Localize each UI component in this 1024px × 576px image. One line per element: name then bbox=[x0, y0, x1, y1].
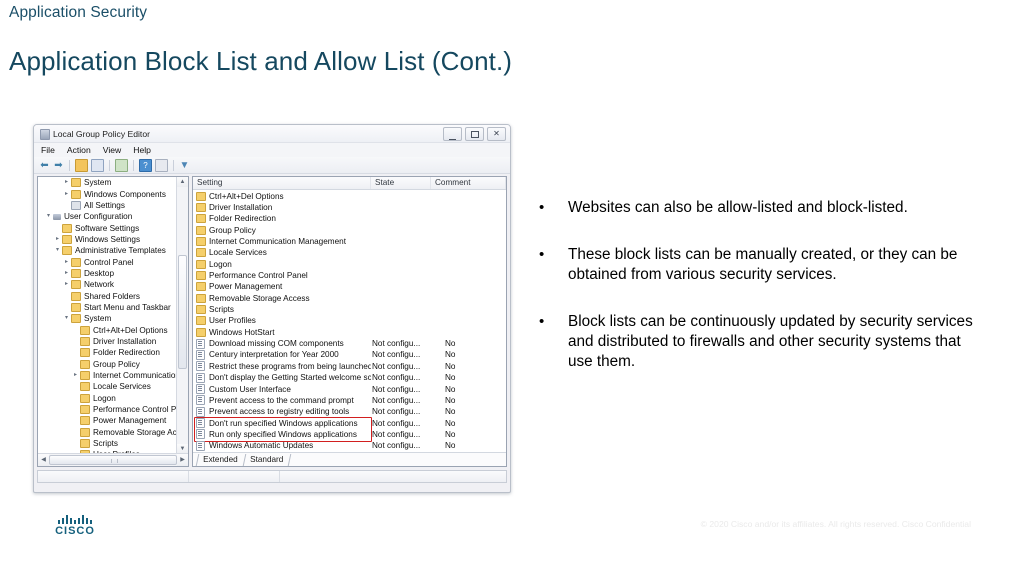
menu-bar: File Action View Help bbox=[34, 143, 510, 157]
folder-icon bbox=[80, 405, 90, 414]
slide-root: Application Security Application Block L… bbox=[0, 0, 1024, 576]
cell-state: Not configu... bbox=[371, 407, 431, 416]
tree-item-label: Windows Components bbox=[84, 190, 166, 199]
chevron-right-icon[interactable]: ▸ bbox=[62, 257, 71, 268]
cisco-logo: CISCO bbox=[44, 515, 106, 537]
bullet-marker: • bbox=[539, 198, 568, 218]
tree-item[interactable]: ▾User Configuration bbox=[38, 211, 177, 222]
cell-comment: No bbox=[431, 430, 506, 439]
menu-item-view[interactable]: View bbox=[103, 145, 121, 155]
cisco-wordmark: CISCO bbox=[44, 525, 106, 537]
bullet-marker: • bbox=[539, 245, 568, 285]
folder-icon bbox=[80, 337, 90, 346]
filter-icon[interactable]: ▼ bbox=[179, 160, 190, 171]
cell-comment: No bbox=[431, 419, 506, 428]
setting-name: Ctrl+Alt+Del Options bbox=[209, 192, 284, 201]
console-tree-pane[interactable]: ▸System▸Windows ComponentsAll Settings▾U… bbox=[37, 176, 189, 467]
table-row[interactable]: Century interpretation for Year 2000Not … bbox=[193, 349, 506, 360]
list-item: • These block lists can be manually crea… bbox=[539, 245, 979, 285]
cell-setting: Internet Communication Management bbox=[193, 237, 371, 246]
refresh-icon[interactable] bbox=[115, 159, 128, 172]
all-settings-icon bbox=[71, 201, 81, 210]
folder-icon bbox=[71, 280, 81, 289]
folder-icon bbox=[71, 178, 81, 187]
cell-setting: Century interpretation for Year 2000 bbox=[193, 350, 371, 360]
setting-name: User Profiles bbox=[209, 316, 256, 325]
tree-item-label: Logon bbox=[93, 394, 116, 403]
folder-icon bbox=[196, 248, 206, 257]
tree-item[interactable]: Ctrl+Alt+Del Options bbox=[38, 324, 177, 335]
tree-item-label: Ctrl+Alt+Del Options bbox=[93, 326, 168, 335]
table-row[interactable]: Custom User InterfaceNot configu...No bbox=[193, 383, 506, 394]
folder-icon bbox=[196, 271, 206, 280]
folder-icon bbox=[80, 382, 90, 391]
setting-name: Driver Installation bbox=[209, 203, 272, 212]
setting-name: Custom User Interface bbox=[209, 385, 291, 394]
tree-item-label: Shared Folders bbox=[84, 292, 140, 301]
setting-name: Removable Storage Access bbox=[209, 294, 310, 303]
show-hide-tree-icon[interactable] bbox=[91, 159, 104, 172]
folder-icon bbox=[71, 269, 81, 278]
toolbar-separator bbox=[173, 160, 174, 171]
folder-icon bbox=[196, 260, 206, 269]
setting-name: Prevent access to registry editing tools bbox=[209, 407, 349, 416]
bullet-list: • Websites can also be allow-listed and … bbox=[539, 198, 979, 399]
tree-item[interactable]: ▸Desktop bbox=[38, 268, 177, 279]
window-panes: ▸System▸Windows ComponentsAll Settings▾U… bbox=[34, 174, 510, 467]
copyright-notice: © 2020 Cisco and/or its affiliates. All … bbox=[701, 519, 971, 529]
folder-icon bbox=[80, 348, 90, 357]
policy-setting-icon bbox=[196, 384, 205, 394]
slide-eyebrow: Application Security bbox=[9, 4, 147, 22]
tree-item[interactable]: ▸System bbox=[38, 177, 177, 188]
tab-extended[interactable]: Extended bbox=[196, 454, 245, 466]
tab-standard[interactable]: Standard bbox=[242, 454, 291, 466]
settings-list: Ctrl+Alt+Del OptionsDriver InstallationF… bbox=[193, 190, 506, 452]
tree-item-label: Folder Redirection bbox=[93, 348, 160, 357]
table-row[interactable]: User Profiles bbox=[193, 315, 506, 326]
setting-name: Locale Services bbox=[209, 248, 267, 257]
cell-setting: Scripts bbox=[193, 305, 371, 314]
folder-icon bbox=[62, 246, 72, 255]
tree-item-label: Driver Installation bbox=[93, 337, 156, 346]
table-row[interactable]: Download missing COM componentsNot confi… bbox=[193, 338, 506, 349]
scrollbar-thumb[interactable] bbox=[49, 455, 177, 465]
tree-item[interactable]: ▸Windows Components bbox=[38, 188, 177, 199]
status-segment bbox=[38, 471, 189, 482]
tree-item[interactable]: Locale Services bbox=[38, 381, 177, 392]
close-button[interactable] bbox=[487, 127, 506, 141]
back-arrow-icon[interactable]: ⬅ bbox=[39, 160, 50, 171]
tree-item-label: Scripts bbox=[93, 439, 118, 448]
policy-setting-icon bbox=[196, 395, 205, 405]
setting-name: Windows Automatic Updates bbox=[209, 441, 313, 450]
tree-item-label: Software Settings bbox=[75, 224, 139, 233]
cell-state: Not configu... bbox=[371, 396, 431, 405]
cell-state: Not configu... bbox=[371, 339, 431, 348]
folder-icon bbox=[196, 237, 206, 246]
setting-name: Don't run specified Windows applications bbox=[209, 419, 358, 428]
cell-setting: Custom User Interface bbox=[193, 384, 371, 394]
tree-item-label: Power Management bbox=[93, 416, 166, 425]
policy-editor-icon bbox=[40, 129, 50, 140]
folder-icon bbox=[71, 303, 81, 312]
table-row[interactable]: Run only specified Windows applicationsN… bbox=[193, 429, 506, 440]
minimize-button[interactable] bbox=[443, 127, 462, 141]
policy-setting-icon bbox=[196, 418, 205, 428]
tree-item[interactable]: Folder Redirection bbox=[38, 347, 177, 358]
policy-setting-icon bbox=[196, 350, 205, 360]
bullet-text: These block lists can be manually create… bbox=[568, 245, 979, 285]
setting-name: Century interpretation for Year 2000 bbox=[209, 350, 339, 359]
cell-setting: Windows HotStart bbox=[193, 328, 371, 337]
table-row[interactable]: Windows HotStart bbox=[193, 327, 506, 338]
cell-setting: Driver Installation bbox=[193, 203, 371, 212]
cell-setting: Logon bbox=[193, 260, 371, 269]
cell-state: Not configu... bbox=[371, 373, 431, 382]
chevron-down-icon[interactable]: ▾ bbox=[44, 211, 53, 222]
policy-setting-icon bbox=[196, 441, 205, 451]
folder-icon bbox=[196, 316, 206, 325]
tree-item-label: Control Panel bbox=[84, 258, 134, 267]
cell-setting: Run only specified Windows applications bbox=[193, 429, 371, 439]
folder-icon bbox=[196, 282, 206, 291]
cell-setting: Restrict these programs from being launc… bbox=[193, 361, 371, 371]
window-titlebar: Local Group Policy Editor bbox=[34, 125, 510, 143]
chevron-right-icon[interactable]: ▸ bbox=[62, 189, 71, 200]
status-bar bbox=[37, 470, 507, 483]
cell-state: Not configu... bbox=[371, 350, 431, 359]
status-segment bbox=[189, 471, 280, 482]
tree-item-label: All Settings bbox=[84, 201, 125, 210]
policy-setting-icon bbox=[196, 429, 205, 439]
up-folder-icon[interactable] bbox=[75, 159, 88, 172]
list-item: • Block lists can be continuously update… bbox=[539, 312, 979, 372]
window-controls bbox=[443, 127, 506, 141]
table-row[interactable]: Scripts bbox=[193, 304, 506, 315]
table-row[interactable]: Windows Automatic UpdatesNot configu...N… bbox=[193, 440, 506, 451]
list-item: • Websites can also be allow-listed and … bbox=[539, 198, 979, 218]
cell-setting: Group Policy bbox=[193, 226, 371, 235]
bullet-text: Websites can also be allow-listed and bl… bbox=[568, 198, 979, 218]
list-column-headers: Setting State Comment bbox=[193, 177, 506, 190]
folder-icon bbox=[80, 439, 90, 448]
cell-comment: No bbox=[431, 362, 506, 371]
folder-icon bbox=[71, 292, 81, 301]
table-row[interactable]: Prevent access to registry editing tools… bbox=[193, 406, 506, 417]
folder-icon bbox=[62, 235, 72, 244]
settings-list-pane[interactable]: Setting State Comment Ctrl+Alt+Del Optio… bbox=[192, 176, 507, 467]
cell-state: Not configu... bbox=[371, 419, 431, 428]
chevron-right-icon[interactable]: ▸ bbox=[62, 268, 71, 279]
tree-item-label: Locale Services bbox=[93, 382, 151, 391]
cisco-bars-icon bbox=[44, 515, 106, 524]
folder-icon bbox=[80, 394, 90, 403]
setting-name: Download missing COM components bbox=[209, 339, 344, 348]
tree-item[interactable]: ▸Control Panel bbox=[38, 256, 177, 267]
folder-icon bbox=[196, 226, 206, 235]
tree-item[interactable]: Start Menu and Taskbar bbox=[38, 302, 177, 313]
tree-item[interactable]: All Settings bbox=[38, 200, 177, 211]
setting-name: Prevent access to the command prompt bbox=[209, 396, 354, 405]
tree-item-label: System bbox=[84, 178, 111, 187]
cell-comment: No bbox=[431, 396, 506, 405]
column-header-setting[interactable]: Setting bbox=[193, 177, 371, 189]
tree-item[interactable]: ▸Windows Settings bbox=[38, 234, 177, 245]
table-row[interactable]: Power Management bbox=[193, 281, 506, 292]
tree-item[interactable]: Driver Installation bbox=[38, 336, 177, 347]
user-configuration-icon bbox=[53, 213, 61, 221]
maximize-button[interactable] bbox=[465, 127, 484, 141]
properties-icon[interactable] bbox=[155, 159, 168, 172]
tree-item-label: Start Menu and Taskbar bbox=[84, 303, 171, 312]
table-row[interactable]: Driver Installation bbox=[193, 202, 506, 213]
cell-setting: Removable Storage Access bbox=[193, 294, 371, 303]
policy-setting-icon bbox=[196, 407, 205, 417]
window-title: Local Group Policy Editor bbox=[53, 129, 150, 139]
help-icon[interactable]: ? bbox=[139, 159, 152, 172]
policy-setting-icon bbox=[196, 373, 205, 383]
cell-setting: User Profiles bbox=[193, 316, 371, 325]
table-row[interactable]: Don't display the Getting Started welcom… bbox=[193, 372, 506, 383]
scroll-left-arrow-icon[interactable]: ◀ bbox=[38, 454, 49, 466]
tab-standard-label: Standard bbox=[250, 454, 283, 465]
cell-comment: No bbox=[431, 373, 506, 382]
policy-setting-icon bbox=[196, 339, 205, 349]
tree-item[interactable]: ▾Administrative Templates bbox=[38, 245, 177, 256]
table-row[interactable]: Removable Storage Access bbox=[193, 293, 506, 304]
tree-item-label: Windows Settings bbox=[75, 235, 140, 244]
table-row[interactable]: Folder Redirection bbox=[193, 213, 506, 224]
toolbar: ⬅ ➡ ? ▼ bbox=[34, 157, 510, 174]
tree-horizontal-scrollbar[interactable]: ◀ ▶ bbox=[38, 453, 188, 466]
menu-item-file[interactable]: File bbox=[41, 145, 55, 155]
table-row[interactable]: Group Policy bbox=[193, 225, 506, 236]
tree-item[interactable]: Software Settings bbox=[38, 222, 177, 233]
setting-name: Scripts bbox=[209, 305, 234, 314]
cell-setting: Don't display the Getting Started welcom… bbox=[193, 373, 371, 383]
cell-setting: Don't run specified Windows applications bbox=[193, 418, 371, 428]
table-row[interactable]: Internet Communication Management bbox=[193, 236, 506, 247]
toolbar-separator bbox=[133, 160, 134, 171]
table-row[interactable]: Locale Services bbox=[193, 247, 506, 258]
tree-item-label: Removable Storage Access bbox=[93, 428, 177, 437]
setting-name: Group Policy bbox=[209, 226, 256, 235]
cell-comment: No bbox=[431, 441, 506, 450]
cell-setting: Prevent access to registry editing tools bbox=[193, 407, 371, 417]
folder-icon bbox=[196, 203, 206, 212]
tree-item[interactable]: Shared Folders bbox=[38, 290, 177, 301]
scroll-right-arrow-icon[interactable]: ▶ bbox=[177, 454, 188, 466]
table-row[interactable]: Restrict these programs from being launc… bbox=[193, 361, 506, 372]
scrollbar-thumb[interactable] bbox=[178, 255, 187, 369]
column-header-state[interactable]: State bbox=[371, 177, 431, 189]
folder-icon bbox=[71, 190, 81, 199]
setting-name: Folder Redirection bbox=[209, 214, 276, 223]
tree-item[interactable]: ▾System bbox=[38, 313, 177, 324]
menu-item-action[interactable]: Action bbox=[67, 145, 91, 155]
tree-item[interactable]: Removable Storage Access bbox=[38, 427, 177, 438]
cell-setting: Performance Control Panel bbox=[193, 271, 371, 280]
setting-name: Restrict these programs from being launc… bbox=[209, 362, 371, 371]
folder-icon bbox=[80, 326, 90, 335]
bullet-text: Block lists can be continuously updated … bbox=[568, 312, 979, 372]
cell-setting: Download missing COM components bbox=[193, 339, 371, 349]
folder-icon bbox=[80, 416, 90, 425]
tree-item[interactable]: ▸Network bbox=[38, 279, 177, 290]
cell-setting: Ctrl+Alt+Del Options bbox=[193, 192, 371, 201]
scroll-up-arrow-icon[interactable]: ▲ bbox=[177, 177, 188, 187]
setting-name: Logon bbox=[209, 260, 232, 269]
table-row[interactable]: Don't run specified Windows applications… bbox=[193, 417, 506, 428]
tree-item[interactable]: Logon bbox=[38, 393, 177, 404]
toolbar-separator bbox=[109, 160, 110, 171]
setting-name: Power Management bbox=[209, 282, 282, 291]
cell-setting: Windows Automatic Updates bbox=[193, 441, 371, 451]
local-group-policy-editor-window: Local Group Policy Editor File Action Vi… bbox=[33, 124, 511, 493]
folder-icon bbox=[62, 224, 72, 233]
folder-icon bbox=[196, 192, 206, 201]
table-row[interactable]: Logon bbox=[193, 259, 506, 270]
folder-icon bbox=[196, 294, 206, 303]
chevron-right-icon[interactable]: ▸ bbox=[71, 370, 80, 381]
chevron-down-icon[interactable]: ▾ bbox=[62, 313, 71, 324]
console-tree: ▸System▸Windows ComponentsAll Settings▾U… bbox=[38, 177, 177, 454]
folder-icon bbox=[71, 314, 81, 323]
table-row[interactable]: Ctrl+Alt+Del Options bbox=[193, 191, 506, 202]
tree-item-label: Desktop bbox=[84, 269, 114, 278]
table-row[interactable]: Performance Control Panel bbox=[193, 270, 506, 281]
setting-name: Performance Control Panel bbox=[209, 271, 308, 280]
cell-state: Not configu... bbox=[371, 430, 431, 439]
view-tabs: Extended Standard bbox=[193, 452, 506, 466]
cell-comment: No bbox=[431, 350, 506, 359]
tree-item-label: Group Policy bbox=[93, 360, 140, 369]
chevron-down-icon[interactable]: ▾ bbox=[53, 245, 62, 256]
folder-icon bbox=[80, 428, 90, 437]
tree-item-label: Performance Control Panel bbox=[93, 405, 177, 414]
folder-icon bbox=[196, 214, 206, 223]
tree-item[interactable]: Power Management bbox=[38, 415, 177, 426]
policy-setting-icon bbox=[196, 361, 205, 371]
setting-name: Windows HotStart bbox=[209, 328, 275, 337]
cell-setting: Locale Services bbox=[193, 248, 371, 257]
cell-state: Not configu... bbox=[371, 441, 431, 450]
tree-item-label: Network bbox=[84, 280, 114, 289]
toolbar-separator bbox=[69, 160, 70, 171]
tree-item[interactable]: ▸Internet Communication Ma bbox=[38, 370, 177, 381]
bullet-marker: • bbox=[539, 312, 568, 372]
forward-arrow-icon[interactable]: ➡ bbox=[53, 160, 64, 171]
folder-icon bbox=[80, 360, 90, 369]
column-header-comment[interactable]: Comment bbox=[431, 177, 506, 189]
tree-item-label: Internet Communication Ma bbox=[93, 371, 177, 380]
cell-state: Not configu... bbox=[371, 362, 431, 371]
cell-comment: No bbox=[431, 407, 506, 416]
cell-setting: Prevent access to the command prompt bbox=[193, 395, 371, 405]
setting-name: Run only specified Windows applications bbox=[209, 430, 357, 439]
setting-name: Internet Communication Management bbox=[209, 237, 346, 246]
menu-item-help[interactable]: Help bbox=[133, 145, 151, 155]
tree-item-label: User Configuration bbox=[64, 212, 132, 221]
tree-item[interactable]: Scripts bbox=[38, 438, 177, 449]
tab-extended-label: Extended bbox=[203, 454, 238, 465]
folder-icon bbox=[80, 371, 90, 380]
cell-comment: No bbox=[431, 385, 506, 394]
chevron-right-icon[interactable]: ▸ bbox=[53, 234, 62, 245]
cell-comment: No bbox=[431, 339, 506, 348]
folder-icon bbox=[196, 328, 206, 337]
cell-state: Not configu... bbox=[371, 385, 431, 394]
tree-item-label: System bbox=[84, 314, 111, 323]
folder-icon bbox=[71, 258, 81, 267]
chevron-right-icon[interactable]: ▸ bbox=[62, 177, 71, 188]
setting-name: Don't display the Getting Started welcom… bbox=[209, 373, 371, 382]
tree-item[interactable]: Performance Control Panel bbox=[38, 404, 177, 415]
cell-setting: Folder Redirection bbox=[193, 214, 371, 223]
folder-icon bbox=[196, 305, 206, 314]
tree-item-label: Administrative Templates bbox=[75, 246, 166, 255]
page-title: Application Block List and Allow List (C… bbox=[9, 46, 512, 77]
table-row[interactable]: Prevent access to the command promptNot … bbox=[193, 395, 506, 406]
cell-setting: Power Management bbox=[193, 282, 371, 291]
tree-item[interactable]: Group Policy bbox=[38, 359, 177, 370]
tree-vertical-scrollbar[interactable]: ▲ ▼ bbox=[176, 177, 188, 454]
chevron-right-icon[interactable]: ▸ bbox=[62, 279, 71, 290]
